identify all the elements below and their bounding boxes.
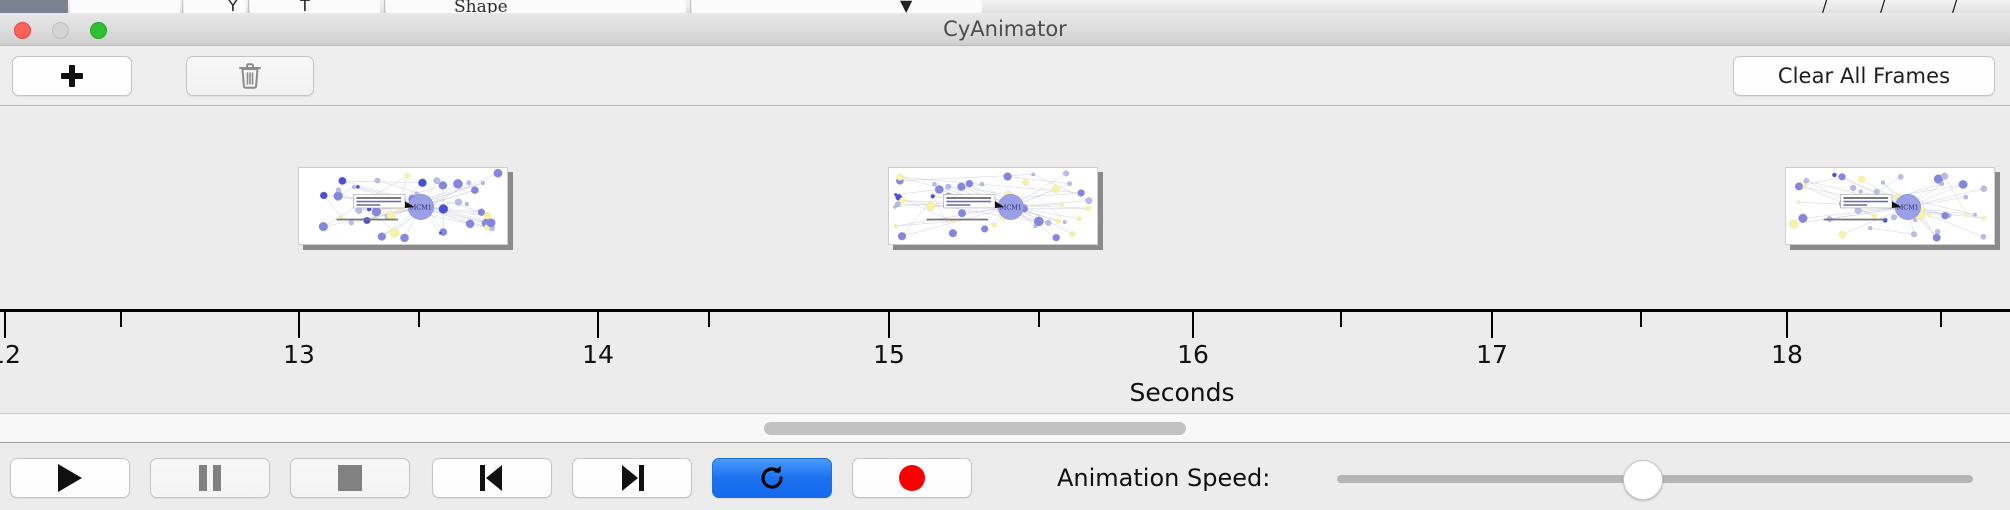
tick-mark bbox=[708, 312, 710, 327]
plus-icon bbox=[61, 65, 83, 87]
loop-icon bbox=[757, 463, 787, 493]
background-window-label: Shape bbox=[454, 0, 508, 13]
timeline-axis bbox=[0, 309, 2010, 312]
tick-mark bbox=[1640, 312, 1642, 327]
animation-speed-slider[interactable] bbox=[1337, 475, 1973, 483]
slider-knob[interactable] bbox=[1623, 460, 1663, 500]
frame-thumbnail[interactable]: MCM1 bbox=[888, 167, 1098, 245]
timeline-frame[interactable]: MCM1 bbox=[298, 167, 513, 247]
tick-mark bbox=[597, 312, 599, 338]
background-window-tab bbox=[0, 0, 68, 13]
timeline-frame[interactable]: MCM1 bbox=[1785, 167, 2000, 247]
tick-label: 16 bbox=[1177, 340, 1209, 369]
tick-label: 15 bbox=[873, 340, 905, 369]
tick-mark bbox=[298, 312, 300, 338]
tick-mark bbox=[418, 312, 420, 327]
svg-text:MCM1: MCM1 bbox=[410, 204, 432, 212]
animation-speed-label: Animation Speed: bbox=[1057, 458, 1270, 498]
play-button[interactable] bbox=[10, 458, 130, 498]
tick-mark bbox=[1038, 312, 1040, 327]
svg-text:MCM1: MCM1 bbox=[1000, 204, 1022, 212]
clear-all-frames-label: Clear All Frames bbox=[1778, 64, 1950, 88]
frame-thumbnail[interactable]: MCM1 bbox=[298, 167, 508, 245]
tick-label: 14 bbox=[582, 340, 614, 369]
stop-button[interactable] bbox=[290, 458, 410, 498]
timeline-panel[interactable]: MCM1MCM1MCM1 12131415161718 Seconds bbox=[0, 106, 2010, 413]
page-title: CyAnimator bbox=[0, 13, 2010, 46]
pause-button[interactable] bbox=[150, 458, 270, 498]
frame-thumbnail[interactable]: MCM1 bbox=[1785, 167, 1995, 245]
tick-mark bbox=[1786, 312, 1788, 338]
tick-mark bbox=[1491, 312, 1493, 338]
record-icon bbox=[899, 465, 925, 491]
skip-forward-icon bbox=[620, 465, 644, 491]
record-button[interactable] bbox=[852, 458, 972, 498]
tick-mark bbox=[1340, 312, 1342, 327]
cyanimator-window: Y T ▼ Shape / / / CyAnimator Clear All F… bbox=[0, 0, 2010, 510]
first-frame-button[interactable] bbox=[432, 458, 552, 498]
top-toolbar: Clear All Frames bbox=[0, 46, 2010, 106]
horizontal-scrollbar[interactable] bbox=[0, 413, 2010, 443]
title-bar: CyAnimator bbox=[0, 13, 2010, 46]
axis-title-seconds: Seconds bbox=[1129, 378, 1234, 407]
tick-label: 12 bbox=[0, 340, 21, 369]
tick-label: 13 bbox=[283, 340, 315, 369]
tick-label: 17 bbox=[1476, 340, 1508, 369]
skip-back-icon bbox=[480, 465, 504, 491]
tick-label: 18 bbox=[1771, 340, 1803, 369]
pause-icon bbox=[199, 465, 221, 491]
timeline-frame[interactable]: MCM1 bbox=[888, 167, 1103, 247]
background-window-strip: Y T ▼ Shape / / / bbox=[0, 0, 2010, 13]
tick-mark bbox=[1192, 312, 1194, 338]
trash-icon bbox=[238, 62, 262, 90]
tick-mark bbox=[888, 312, 890, 338]
delete-frame-button[interactable] bbox=[186, 56, 314, 96]
scrollbar-thumb[interactable] bbox=[764, 422, 1186, 435]
loop-button[interactable] bbox=[712, 458, 832, 498]
play-icon bbox=[58, 464, 82, 492]
tick-mark bbox=[1940, 312, 1942, 327]
add-frame-button[interactable] bbox=[12, 56, 132, 96]
tick-mark bbox=[4, 312, 6, 338]
stop-icon bbox=[338, 465, 362, 491]
last-frame-button[interactable] bbox=[572, 458, 692, 498]
svg-text:MCM1: MCM1 bbox=[1897, 204, 1919, 212]
clear-all-frames-button[interactable]: Clear All Frames bbox=[1733, 56, 1995, 96]
tick-mark bbox=[120, 312, 122, 327]
playback-control-bar: Animation Speed: bbox=[0, 444, 2010, 510]
